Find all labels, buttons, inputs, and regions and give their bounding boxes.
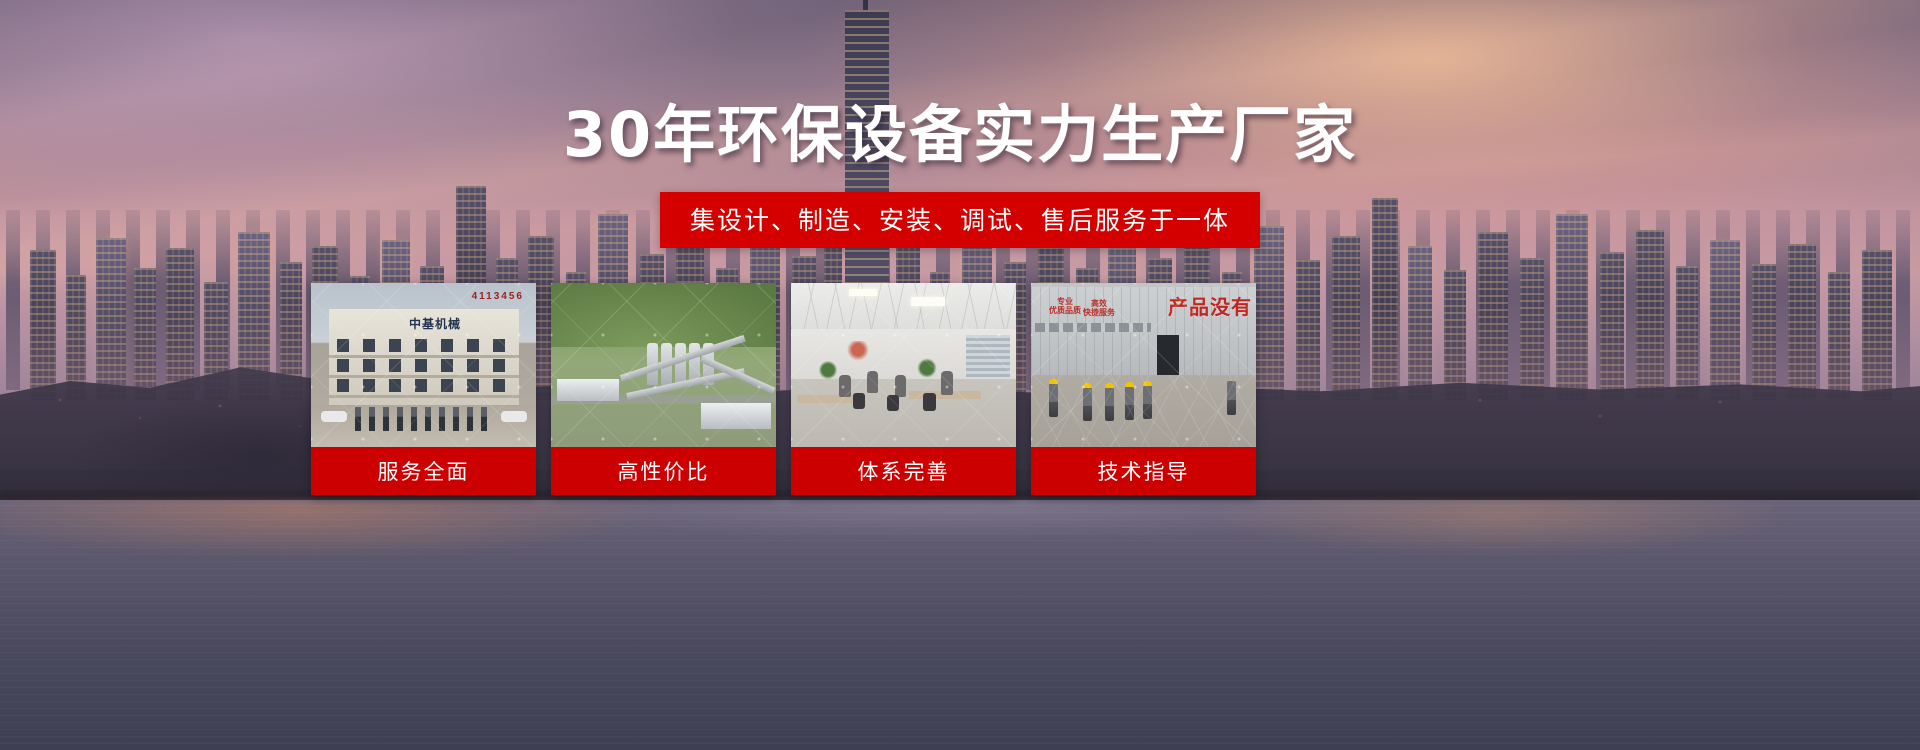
card-photo-company-building: 中基机械 4113456 — [311, 283, 536, 447]
page-title: 30年环保设备实力生产厂家 — [0, 104, 1920, 166]
factory-slogan-2: 高效 快捷服务 — [1083, 299, 1115, 317]
card-photo-factory-workers: 产品没有 专业 优质品质 高效 快捷服务 — [1031, 283, 1256, 447]
feature-card[interactable]: 高性价比 — [551, 283, 776, 495]
building-number-text: 4113456 — [472, 291, 524, 302]
feature-card[interactable]: 产品没有 专业 优质品质 高效 快捷服务 — [1031, 283, 1256, 495]
card-label: 服务全面 — [311, 447, 536, 495]
card-label: 体系完善 — [791, 447, 1016, 495]
hero-banner: 30年环保设备实力生产厂家 集设计、制造、安装、调试、售后服务于一体 中基机械 — [0, 0, 1920, 750]
card-photo-office-interior — [791, 283, 1016, 447]
wall-logo — [843, 341, 873, 363]
feature-card-list: 中基机械 4113456 — [311, 283, 1611, 495]
card-label: 高性价比 — [551, 447, 776, 495]
card-label: 技术指导 — [1031, 447, 1256, 495]
factory-banner-text: 产品没有 — [1168, 291, 1252, 320]
card-photo-aerial-plant — [551, 283, 776, 447]
banner-content: 30年环保设备实力生产厂家 集设计、制造、安装、调试、售后服务于一体 中基机械 — [0, 0, 1920, 750]
feature-card[interactable]: 中基机械 4113456 — [311, 283, 536, 495]
factory-slogan-1: 专业 优质品质 — [1049, 297, 1081, 315]
building-sign-text: 中基机械 — [379, 315, 491, 331]
subtitle-bar: 集设计、制造、安装、调试、售后服务于一体 — [660, 192, 1260, 248]
feature-card[interactable]: 体系完善 — [791, 283, 1016, 495]
